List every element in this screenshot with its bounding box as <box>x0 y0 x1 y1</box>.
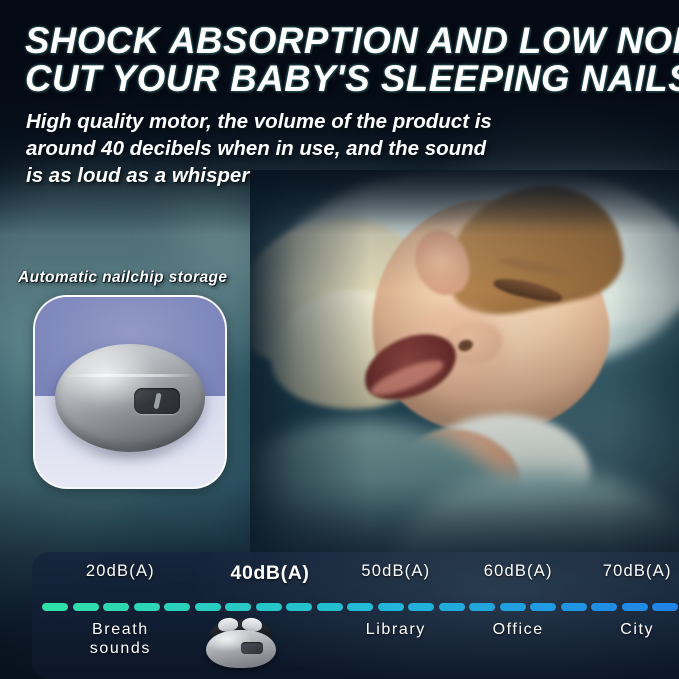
noise-source-label: Office <box>493 620 544 639</box>
noise-source-label: Library <box>366 620 426 639</box>
noise-source-label: Breath sounds <box>90 620 151 658</box>
scale-dash <box>42 603 68 611</box>
scale-dash <box>347 603 373 611</box>
decibel-scale-panel: 20dB(A)40dB(A)50dB(A)60dB(A)70dB(A) Brea… <box>32 552 679 679</box>
scale-dash <box>134 603 160 611</box>
scale-dash <box>439 603 465 611</box>
subheadline-line-2: around 40 decibels when in use, and the … <box>26 135 586 162</box>
scale-dash <box>378 603 404 611</box>
scale-dash <box>561 603 587 611</box>
nail-trimmer-device <box>55 344 205 452</box>
device-chip-window <box>241 642 263 654</box>
subheadline-line-1: High quality motor, the volume of the pr… <box>26 108 586 135</box>
scale-dash <box>256 603 282 611</box>
headline-line-1: SHOCK ABSORPTION AND LOW NOISE <box>25 22 659 60</box>
scale-dash <box>195 603 221 611</box>
decibel-tick-20: 20dB(A) <box>86 562 155 581</box>
product-marketing-image: SHOCK ABSORPTION AND LOW NOISE CUT YOUR … <box>0 0 679 679</box>
headline: SHOCK ABSORPTION AND LOW NOISE CUT YOUR … <box>25 22 665 98</box>
subheadline-line-3: is as loud as a whisper <box>26 162 586 189</box>
scale-dash <box>500 603 526 611</box>
decibel-tick-70: 70dB(A) <box>603 562 672 581</box>
scale-dash <box>103 603 129 611</box>
noise-source-label: City <box>620 620 654 639</box>
scale-dash <box>652 603 678 611</box>
scale-dash <box>164 603 190 611</box>
nailchip-storage-inset <box>33 295 227 489</box>
scale-dash <box>317 603 343 611</box>
noise-source-row: Breath soundsLibraryOfficeCity <box>32 620 679 672</box>
inset-caption: Automatic nailchip storage <box>18 269 227 287</box>
subheadline: High quality motor, the volume of the pr… <box>26 108 586 189</box>
device-reflection <box>63 449 197 475</box>
scale-dash <box>530 603 556 611</box>
decibel-label-row: 20dB(A)40dB(A)50dB(A)60dB(A)70dB(A) <box>32 562 679 590</box>
decibel-gradient-track <box>32 601 679 613</box>
scale-dash <box>469 603 495 611</box>
product-thumbnail-40db <box>204 618 278 670</box>
decibel-tick-50: 50dB(A) <box>361 562 430 581</box>
scale-dash <box>225 603 251 611</box>
scale-dash <box>591 603 617 611</box>
device-seam <box>65 374 195 377</box>
device-chip-window <box>134 388 180 414</box>
decibel-tick-60: 60dB(A) <box>484 562 553 581</box>
scale-dash <box>622 603 648 611</box>
scale-dash <box>73 603 99 611</box>
headline-line-2: CUT YOUR BABY'S SLEEPING NAILS <box>25 60 659 98</box>
decibel-tick-40: 40dB(A) <box>231 562 310 585</box>
scale-dash <box>286 603 312 611</box>
scale-dash <box>408 603 434 611</box>
